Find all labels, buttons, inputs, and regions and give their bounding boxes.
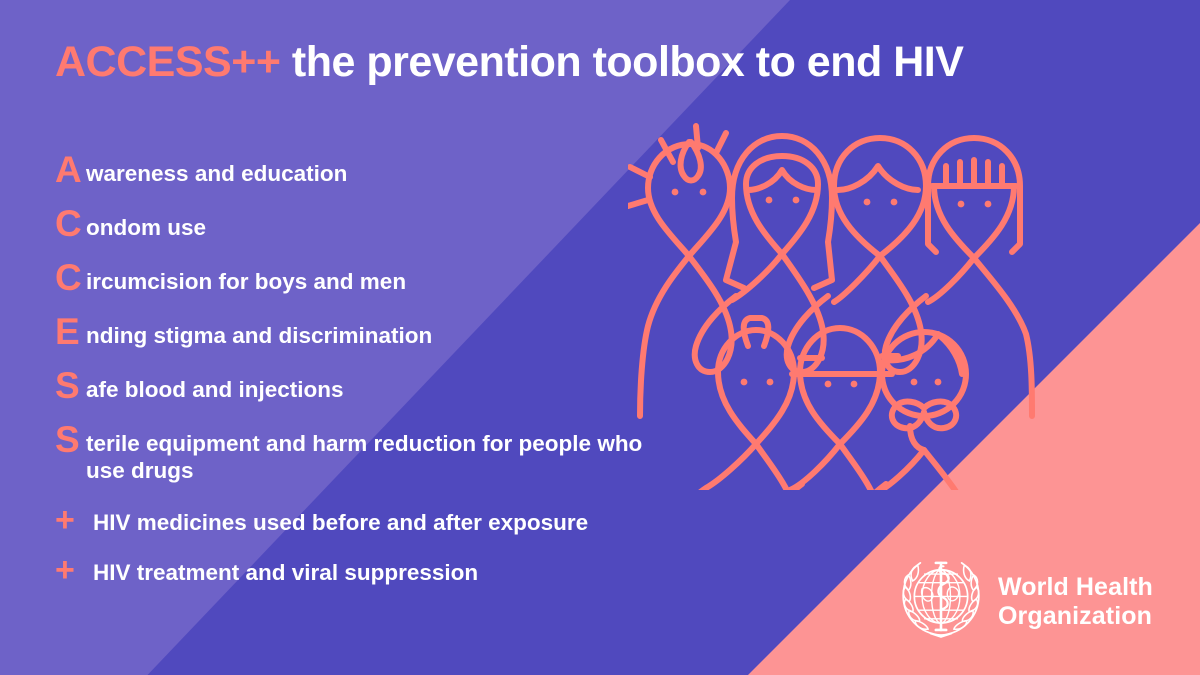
who-wordmark-line2: Organization <box>998 602 1153 631</box>
person-topknot <box>682 318 802 490</box>
bullet-letter-a: A <box>55 152 86 188</box>
person-cap <box>790 328 892 490</box>
bullet-letter-s2: S <box>55 422 86 458</box>
bullet-letter-c2: C <box>55 260 86 296</box>
list-item-label: afe blood and injections <box>86 368 344 403</box>
plus-icon: + <box>55 554 93 586</box>
bullet-letter-c1: C <box>55 206 86 242</box>
list-item: + HIV treatment and viral suppression <box>55 554 745 586</box>
headline-acronym: ACCESS++ <box>55 38 280 86</box>
page-title: ACCESS++ the prevention toolbox to end H… <box>55 38 963 87</box>
list-item-label: nding stigma and discrimination <box>86 314 432 349</box>
plus-icon: + <box>55 504 93 536</box>
headline-rest: the prevention toolbox to end HIV <box>280 38 963 86</box>
who-wordmark: World Health Organization <box>998 573 1153 631</box>
list-item-label: HIV treatment and viral suppression <box>93 554 478 586</box>
list-item: + HIV medicines used before and after ex… <box>55 504 745 536</box>
bullet-letter-s1: S <box>55 368 86 404</box>
poster-canvas: ACCESS++ the prevention toolbox to end H… <box>0 0 1200 675</box>
list-item-label: HIV medicines used before and after expo… <box>93 504 588 536</box>
person-headscarf <box>928 138 1032 416</box>
people-linked-arms-illustration <box>628 120 1048 490</box>
bullet-letter-e: E <box>55 314 86 350</box>
list-item-label: terile equipment and harm reduction for … <box>86 422 646 484</box>
person-short-hair <box>834 138 926 372</box>
who-emblem-icon <box>898 556 984 647</box>
list-item-label: ondom use <box>86 206 206 241</box>
who-logo: World Health Organization <box>898 556 1153 647</box>
list-item-label: ircumcision for boys and men <box>86 260 406 295</box>
person-moustache <box>874 332 972 490</box>
who-wordmark-line1: World Health <box>998 573 1153 602</box>
list-item-label: wareness and education <box>86 152 347 187</box>
